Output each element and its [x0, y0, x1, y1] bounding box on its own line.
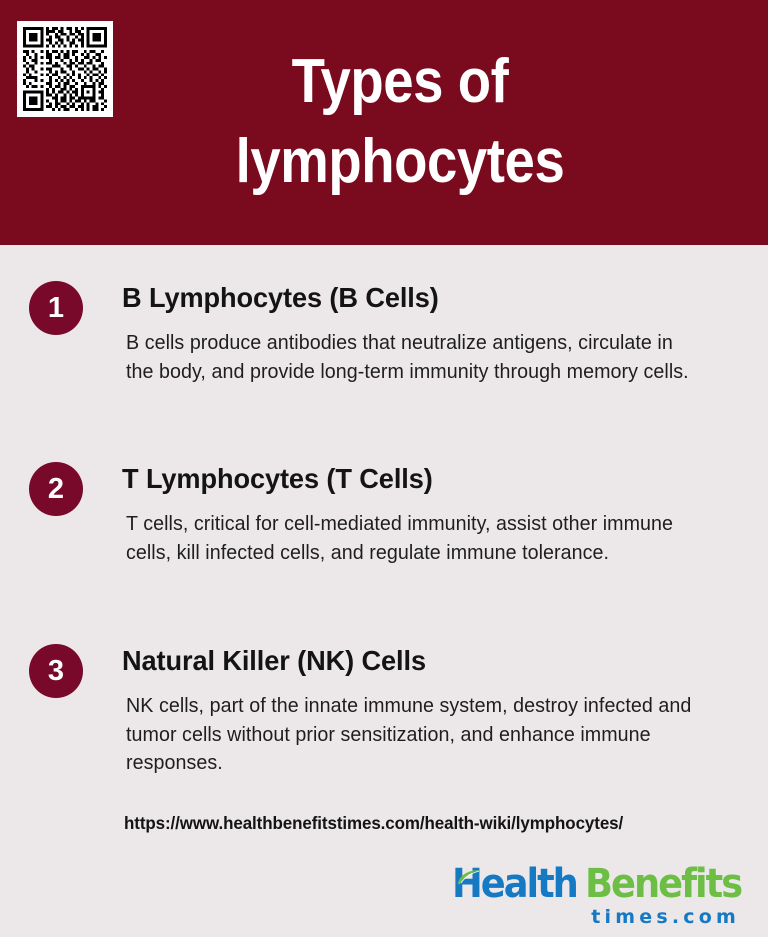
qr-code-container — [17, 21, 113, 117]
section-content: Natural Killer (NK) Cells NK cells, part… — [122, 644, 732, 778]
section-heading: T Lymphocytes (T Cells) — [122, 462, 714, 496]
step-number-badge: 2 — [29, 462, 83, 516]
section-heading: B Lymphocytes (B Cells) — [122, 281, 714, 315]
source-url[interactable]: https://www.healthbenefitstimes.com/heal… — [124, 812, 623, 834]
section-content: T Lymphocytes (T Cells) T cells, critica… — [122, 462, 732, 567]
section-description: NK cells, part of the innate immune syst… — [126, 692, 702, 778]
logo-text-benefits: Benefits — [585, 864, 741, 904]
section-description: B cells produce antibodies that neutrali… — [126, 329, 702, 386]
page-title-line-1: Types of — [136, 42, 664, 122]
logo-wordmark: HealthBenefits — [452, 864, 742, 904]
page-title: Types of lymphocytes — [100, 42, 700, 202]
logo-text-health: Health — [452, 864, 577, 904]
section-content: B Lymphocytes (B Cells) B cells produce … — [122, 281, 732, 386]
infographic-page: Types of lymphocytes 1 B Lymphocytes (B … — [0, 0, 768, 937]
qr-code — [23, 27, 107, 111]
section-description: T cells, critical for cell-mediated immu… — [126, 510, 702, 567]
site-logo: HealthBenefits times.com — [452, 864, 742, 928]
step-number-badge: 3 — [29, 644, 83, 698]
step-number-badge: 1 — [29, 281, 83, 335]
page-title-line-2: lymphocytes — [136, 122, 664, 202]
logo-domain: times.com — [452, 906, 742, 928]
section-heading: Natural Killer (NK) Cells — [122, 644, 714, 678]
header-banner: Types of lymphocytes — [0, 0, 768, 245]
